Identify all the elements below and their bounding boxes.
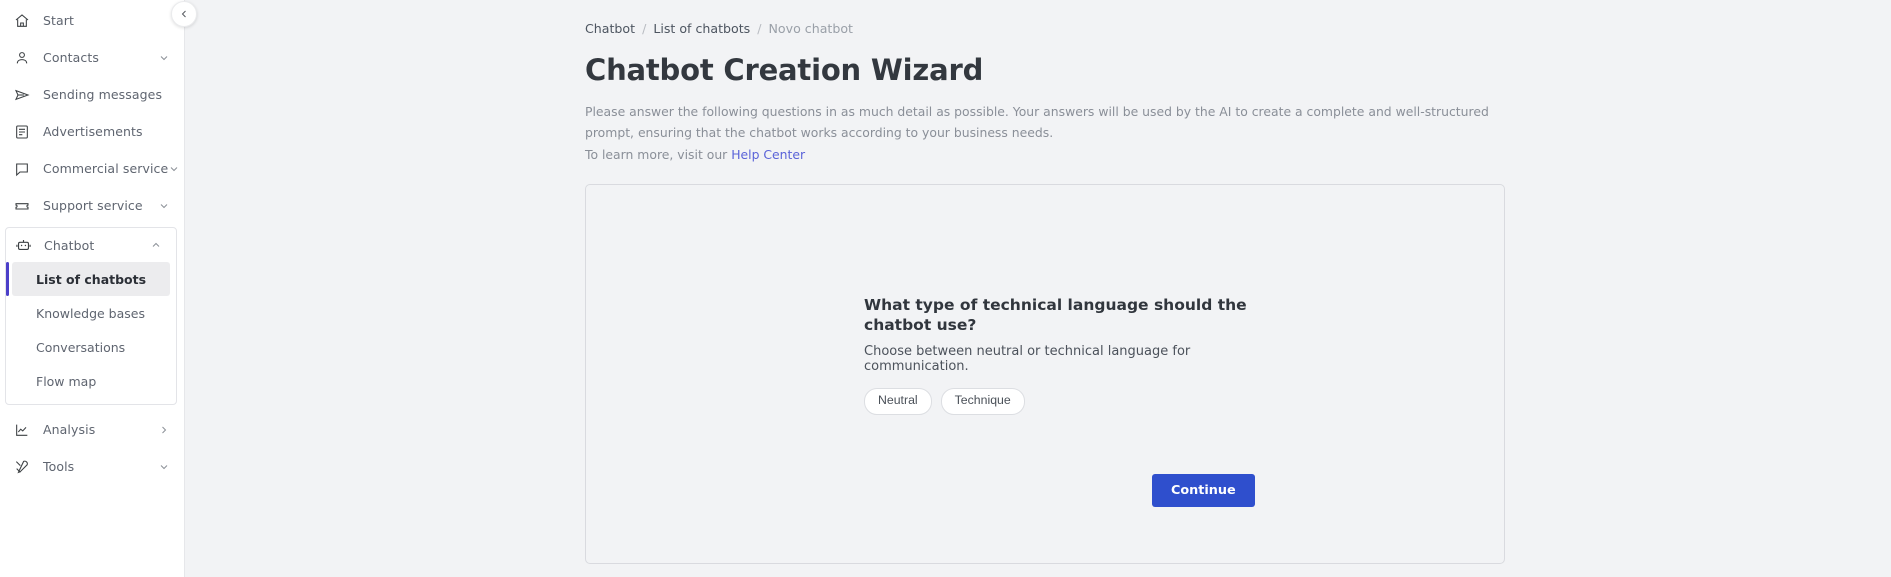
- question-subtitle: Choose between neutral or technical lang…: [864, 344, 1254, 374]
- chat-icon: [13, 160, 31, 178]
- chart-icon: [13, 421, 31, 439]
- option-chip-neutral[interactable]: Neutral: [864, 388, 932, 415]
- breadcrumb-separator: /: [757, 21, 761, 36]
- breadcrumb-separator: /: [642, 21, 646, 36]
- breadcrumb-item-current: Novo chatbot: [769, 21, 854, 36]
- main-content: Chatbot / List of chatbots / Novo chatbo…: [185, 0, 1891, 577]
- sidebar-item-label: Chatbot: [44, 238, 94, 253]
- sidebar-item-chatbot[interactable]: Chatbot: [6, 228, 176, 262]
- sidebar: Start Contacts Sending messages Advertis…: [0, 0, 185, 577]
- sidebar-item-flow-map[interactable]: Flow map: [12, 364, 170, 398]
- sidebar-item-label: Advertisements: [43, 124, 143, 139]
- sidebar-item-start[interactable]: Start: [0, 2, 184, 39]
- option-chips: Neutral Technique: [864, 388, 1254, 415]
- breadcrumb-item-chatbot[interactable]: Chatbot: [585, 21, 635, 36]
- sidebar-subitem-label: Knowledge bases: [36, 306, 145, 321]
- continue-button[interactable]: Continue: [1152, 474, 1255, 507]
- question-title: What type of technical language should t…: [864, 295, 1254, 336]
- user-icon: [13, 49, 31, 67]
- home-icon: [13, 12, 31, 30]
- sidebar-item-label: Contacts: [43, 50, 99, 65]
- option-chip-technique[interactable]: Technique: [941, 388, 1025, 415]
- help-center-link[interactable]: Help Center: [731, 147, 805, 162]
- chevron-down-icon[interactable]: [157, 199, 170, 212]
- sidebar-item-list-of-chatbots[interactable]: List of chatbots: [12, 262, 170, 296]
- chevron-down-icon[interactable]: [168, 162, 180, 175]
- document-icon: [13, 123, 31, 141]
- sidebar-subitem-label: Conversations: [36, 340, 125, 355]
- ticket-icon: [13, 197, 31, 215]
- robot-icon: [14, 236, 32, 254]
- sidebar-item-label: Sending messages: [43, 87, 162, 102]
- sidebar-item-tools[interactable]: Tools: [0, 448, 184, 485]
- page-description-prefix: To learn more, visit our: [585, 147, 731, 162]
- sidebar-subitem-label: Flow map: [36, 374, 96, 389]
- sidebar-item-commercial-service[interactable]: Commercial service: [0, 150, 184, 187]
- breadcrumb-item-list-of-chatbots[interactable]: List of chatbots: [653, 21, 750, 36]
- page-description: Please answer the following questions in…: [585, 101, 1490, 165]
- sidebar-item-sending-messages[interactable]: Sending messages: [0, 76, 184, 113]
- sidebar-subitem-label: List of chatbots: [36, 272, 146, 287]
- sidebar-item-label: Commercial service: [43, 161, 168, 176]
- chevron-down-icon[interactable]: [157, 51, 170, 64]
- sidebar-item-support-service[interactable]: Support service: [0, 187, 184, 224]
- sidebar-item-conversations[interactable]: Conversations: [12, 330, 170, 364]
- sidebar-item-advertisements[interactable]: Advertisements: [0, 113, 184, 150]
- chevron-down-icon[interactable]: [157, 460, 170, 473]
- sidebar-item-analysis[interactable]: Analysis: [0, 411, 184, 448]
- breadcrumb: Chatbot / List of chatbots / Novo chatbo…: [585, 20, 1861, 36]
- sidebar-item-contacts[interactable]: Contacts: [0, 39, 184, 76]
- chevron-left-icon: [178, 8, 190, 20]
- chevron-right-icon[interactable]: [157, 423, 170, 436]
- page-title: Chatbot Creation Wizard: [585, 53, 1861, 87]
- sidebar-item-label: Support service: [43, 198, 143, 213]
- send-icon: [13, 86, 31, 104]
- sidebar-collapse-button[interactable]: [171, 1, 197, 27]
- app-root: Start Contacts Sending messages Advertis…: [0, 0, 1891, 577]
- sidebar-item-knowledge-bases[interactable]: Knowledge bases: [12, 296, 170, 330]
- sidebar-item-label: Analysis: [43, 422, 95, 437]
- sidebar-group-chatbot: Chatbot List of chatbots Knowledge bases…: [5, 227, 177, 405]
- sidebar-item-label: Start: [43, 13, 74, 28]
- sidebar-item-label: Tools: [43, 459, 74, 474]
- chevron-up-icon[interactable]: [149, 239, 162, 252]
- tools-icon: [13, 458, 31, 476]
- question-block: What type of technical language should t…: [864, 295, 1254, 415]
- page-description-text: Please answer the following questions in…: [585, 104, 1489, 140]
- wizard-card: What type of technical language should t…: [585, 184, 1505, 564]
